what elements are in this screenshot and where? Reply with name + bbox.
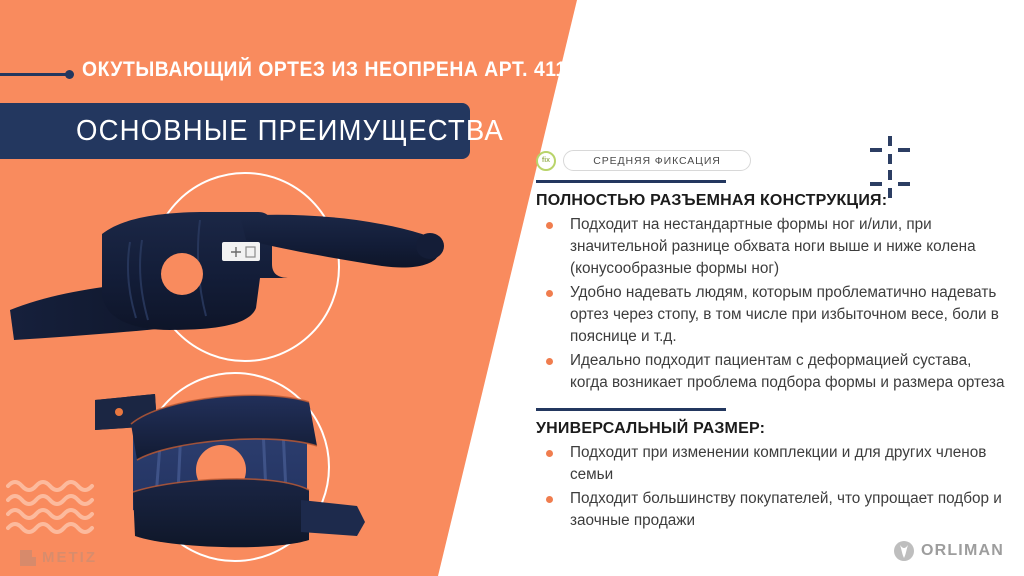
- metiz-watermark: METIZ: [20, 549, 97, 566]
- fixation-gauge-icon: fix: [536, 151, 556, 171]
- section-divider-top: [536, 180, 726, 183]
- title-leader-line: [0, 73, 72, 76]
- fixation-badge-label: СРЕДНЯЯ ФИКСАЦИЯ: [593, 155, 721, 167]
- orliman-logo: ORLIMAN: [893, 540, 1004, 562]
- slide-kicker: ОКУТЫВАЮЩИЙ ОРТЕЗ ИЗ НЕОПРЕНА АРТ. 4119: [82, 58, 514, 82]
- section-bullet-list: Подходит при изменении комплекции и для …: [536, 442, 1006, 532]
- section-divider-bottom: [536, 408, 726, 411]
- product-image-open-brace: [10, 190, 450, 350]
- list-item: Подходит большинству покупателей, что уп…: [536, 488, 1006, 532]
- page-title: ОСНОВНЫЕ ПРЕИМУЩЕСТВА: [76, 115, 504, 148]
- section-heading: УНИВЕРСАЛЬНЫЙ РАЗМЕР:: [536, 420, 1006, 438]
- list-item: Подходит при изменении комплекции и для …: [536, 442, 1006, 486]
- orliman-mark-icon: [893, 540, 915, 562]
- metiz-mark-icon: [20, 550, 36, 566]
- content-column: fix СРЕДНЯЯ ФИКСАЦИЯ ПОЛНОСТЬЮ РАЗЪЕМНАЯ…: [536, 150, 1006, 534]
- fixation-badge: fix СРЕДНЯЯ ФИКСАЦИЯ: [536, 150, 1006, 171]
- page-title-bar: ОСНОВНЫЕ ПРЕИМУЩЕСТВА: [0, 103, 470, 159]
- section-bullet-list: Подходит на нестандартные формы ног и/ил…: [536, 214, 1006, 394]
- metiz-watermark-label: METIZ: [42, 549, 97, 566]
- orliman-logo-label: ORLIMAN: [921, 542, 1004, 560]
- section-universal-size: УНИВЕРСАЛЬНЫЙ РАЗМЕР: Подходит при измен…: [536, 408, 1006, 532]
- slide: METIZ ОКУТЫВАЮЩИЙ ОРТЕЗ ИЗ НЕОПРЕНА АРТ.…: [0, 0, 1024, 576]
- fixation-badge-pill: СРЕДНЯЯ ФИКСАЦИЯ: [563, 150, 751, 171]
- list-item: Идеально подходит пациентам с деформацие…: [536, 350, 1006, 394]
- list-item: Подходит на нестандартные формы ног и/ил…: [536, 214, 1006, 280]
- section-detachable-construction: ПОЛНОСТЬЮ РАЗЪЕМНАЯ КОНСТРУКЦИЯ: Подходи…: [536, 192, 1006, 394]
- leader-dot-icon: [65, 70, 74, 79]
- product-image-wrapped-brace: [95, 380, 365, 560]
- section-heading: ПОЛНОСТЬЮ РАЗЪЕМНАЯ КОНСТРУКЦИЯ:: [536, 192, 1006, 210]
- list-item: Удобно надевать людям, которым проблемат…: [536, 282, 1006, 348]
